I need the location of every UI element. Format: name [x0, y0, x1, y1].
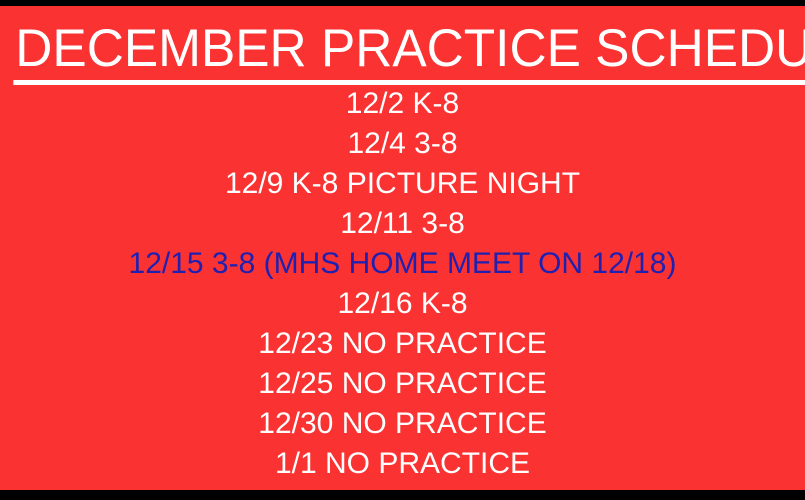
list-item: 12/30 NO PRACTICE — [0, 404, 805, 444]
schedule-entry-text: 12/23 NO PRACTICE — [258, 327, 546, 360]
bottom-letterbox-bar — [0, 490, 805, 500]
list-item: 12/9 K-8 PICTURE NIGHT — [0, 164, 805, 204]
list-item: 12/4 3-8 — [0, 124, 805, 164]
schedule-list: 12/2 K-8 12/4 3-8 12/9 K-8 PICTURE NIGHT… — [0, 84, 805, 484]
schedule-entry-text: 12/25 NO PRACTICE — [258, 367, 546, 400]
schedule-entry-text: 12/4 3-8 — [347, 127, 457, 160]
schedule-entry-text: 1/1 NO PRACTICE — [275, 447, 530, 480]
schedule-entry-text: 12/30 NO PRACTICE — [258, 407, 546, 440]
list-item: 12/23 NO PRACTICE — [0, 324, 805, 364]
schedule-entry-text: 12/2 K-8 — [346, 87, 459, 120]
list-item: 12/16 K-8 — [0, 284, 805, 324]
schedule-entry-text: 12/16 K-8 — [337, 287, 467, 320]
page-title-container: DECEMBER PRACTICE SCHEDULE — [0, 20, 805, 85]
list-item-highlighted: 12/15 3-8 (MHS HOME MEET ON 12/18) — [0, 244, 805, 284]
list-item: 12/25 NO PRACTICE — [0, 364, 805, 404]
list-item: 1/1 NO PRACTICE — [0, 444, 805, 484]
list-item: 12/11 3-8 — [0, 204, 805, 244]
poster-body: DECEMBER PRACTICE SCHEDULE 12/2 K-8 12/4… — [0, 6, 805, 490]
schedule-entry-text: 12/15 3-8 (MHS HOME MEET ON 12/18) — [129, 247, 677, 280]
practice-schedule-flyer: DECEMBER PRACTICE SCHEDULE 12/2 K-8 12/4… — [0, 0, 805, 500]
schedule-entry-text: 12/11 3-8 — [340, 207, 465, 240]
page-title: DECEMBER PRACTICE SCHEDULE — [13, 20, 805, 85]
schedule-entry-text: 12/9 K-8 PICTURE NIGHT — [225, 167, 580, 200]
list-item: 12/2 K-8 — [0, 84, 805, 124]
